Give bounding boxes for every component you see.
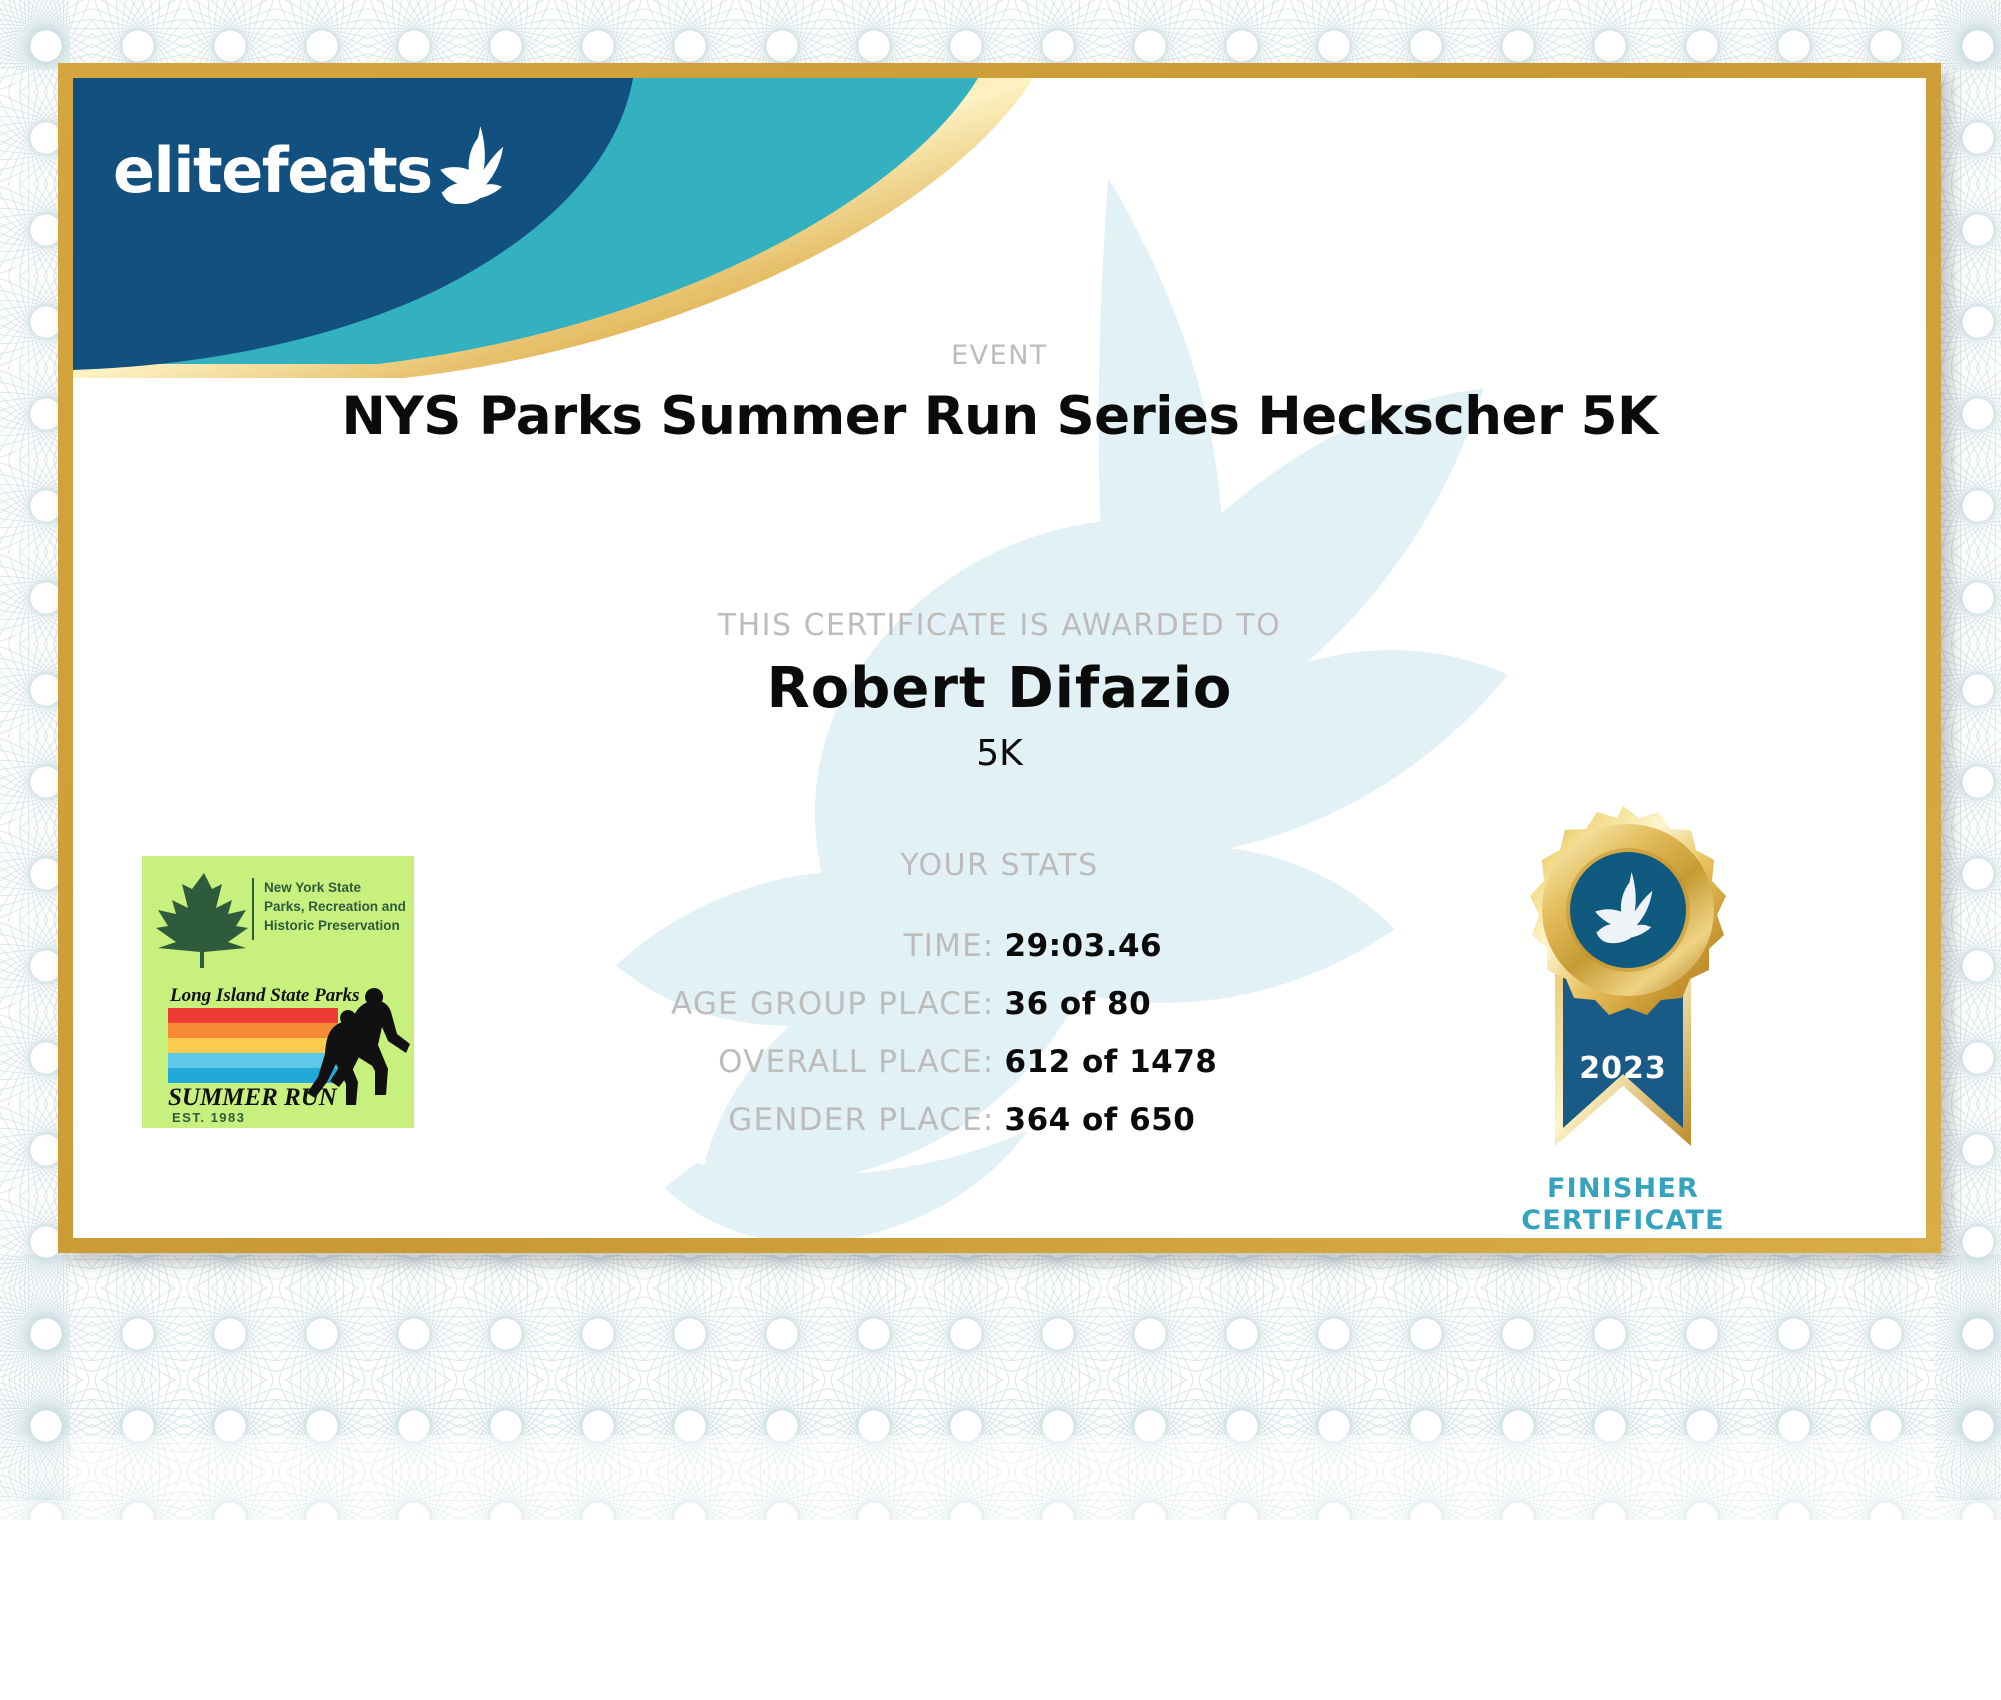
race-distance: 5K [73,733,1926,774]
winged-foot-icon [434,124,506,204]
sponsor-established: EST. 1983 [172,1110,246,1125]
stat-value-overall-place: 612 of 1478 [1005,1044,1425,1080]
event-title: NYS Parks Summer Run Series Heckscher 5K [73,386,1926,447]
stat-label-time: TIME: [575,928,1005,964]
sponsor-logo-nys-parks-summer-run: New York State Parks, Recreation and His… [142,856,414,1128]
sponsor-series-name: SUMMER RUN [168,1084,338,1111]
rainbow-stripes [168,1008,338,1083]
stat-label-gender-place: GENDER PLACE: [575,1102,1005,1138]
certificate-card: elitefeats EVENT NYS Parks Summer Run Se… [73,78,1926,1238]
certificate-content: EVENT NYS Parks Summer Run Series Hecksc… [73,78,1926,1238]
stat-label-age-group-place: AGE GROUP PLACE: [575,986,1005,1022]
caption-line-finisher: FINISHER [1453,1173,1793,1205]
sponsor-series-title: Long Island State Parks [169,985,360,1006]
stat-label-overall-place: OVERALL PLACE: [575,1044,1005,1080]
sponsor-agency-line1: New York State [264,880,362,895]
elitefeats-logo: elitefeats [113,140,506,204]
certificate-gold-border: elitefeats EVENT NYS Parks Summer Run Se… [58,63,1941,1253]
finisher-medal-badge: 2023 [1483,798,1763,1198]
sponsor-agency-line2: Parks, Recreation and [264,899,406,914]
recipient-name: Robert Difazio [73,656,1926,721]
finisher-certificate-caption: FINISHER CERTIFICATE [1453,1173,1793,1237]
sponsor-agency-line3: Historic Preservation [264,918,400,933]
event-label: EVENT [73,340,1926,371]
stat-value-age-group-place: 36 of 80 [1005,986,1425,1022]
caption-line-certificate: CERTIFICATE [1453,1205,1793,1237]
stat-value-gender-place: 364 of 650 [1005,1102,1425,1138]
awarded-to-label: THIS CERTIFICATE IS AWARDED TO [73,608,1926,643]
medal-year: 2023 [1579,1051,1667,1086]
stat-value-time: 29:03.46 [1005,928,1425,964]
certificate-page: elitefeats EVENT NYS Parks Summer Run Se… [0,0,2001,1700]
elitefeats-wordmark: elitefeats [113,140,432,202]
